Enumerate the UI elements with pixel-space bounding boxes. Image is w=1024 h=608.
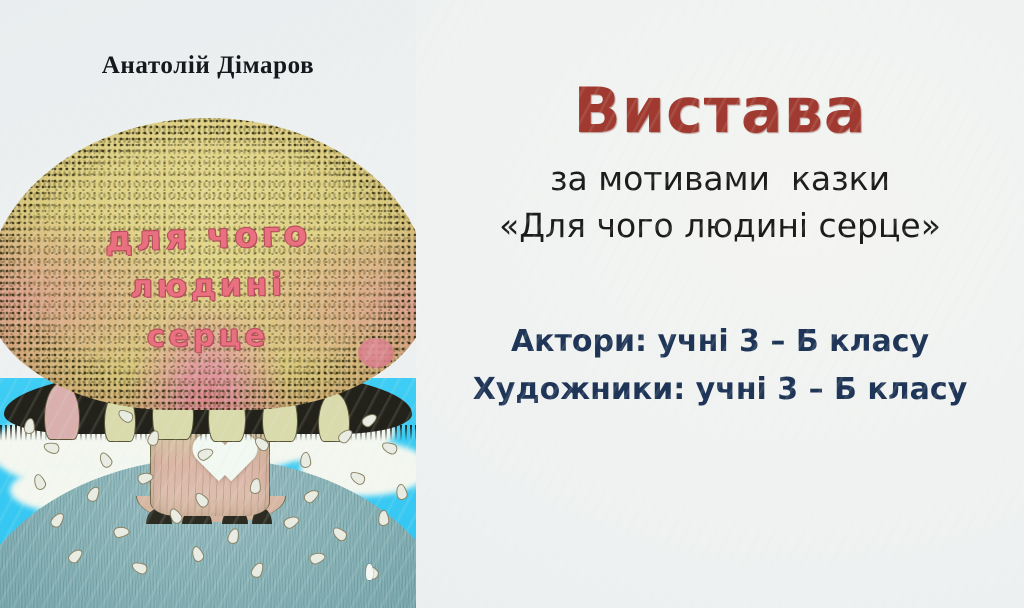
falling-leaf — [249, 478, 261, 495]
cover-author-name: Анатолій Дімаров — [0, 52, 416, 80]
tiny-figure — [366, 564, 373, 580]
cover-title: для чого людині серце — [0, 214, 416, 357]
book-cover-image: для чого людині серце Анатолій Дімаров — [0, 0, 416, 608]
cover-title-line-1: для чого — [0, 208, 416, 267]
slide-text-panel: Вистава за мотивами казки «Для чого люди… — [416, 0, 1024, 608]
credit-artists: Художники: учні 3 – Б класу — [416, 372, 1024, 407]
subtitle-line-2: «Для чого людині серце» — [416, 206, 1024, 245]
falling-leaf — [24, 418, 36, 435]
page-title: Вистава — [416, 74, 1024, 147]
credit-actors: Актори: учні 3 – Б класу — [416, 324, 1024, 359]
cover-title-line-3: серце — [0, 314, 416, 358]
presentation-slide: для чого людині серце Анатолій Дімаров В… — [0, 0, 1024, 608]
cover-title-line-2: людині — [0, 262, 416, 311]
subtitle-line-1: за мотивами казки — [416, 159, 1024, 198]
